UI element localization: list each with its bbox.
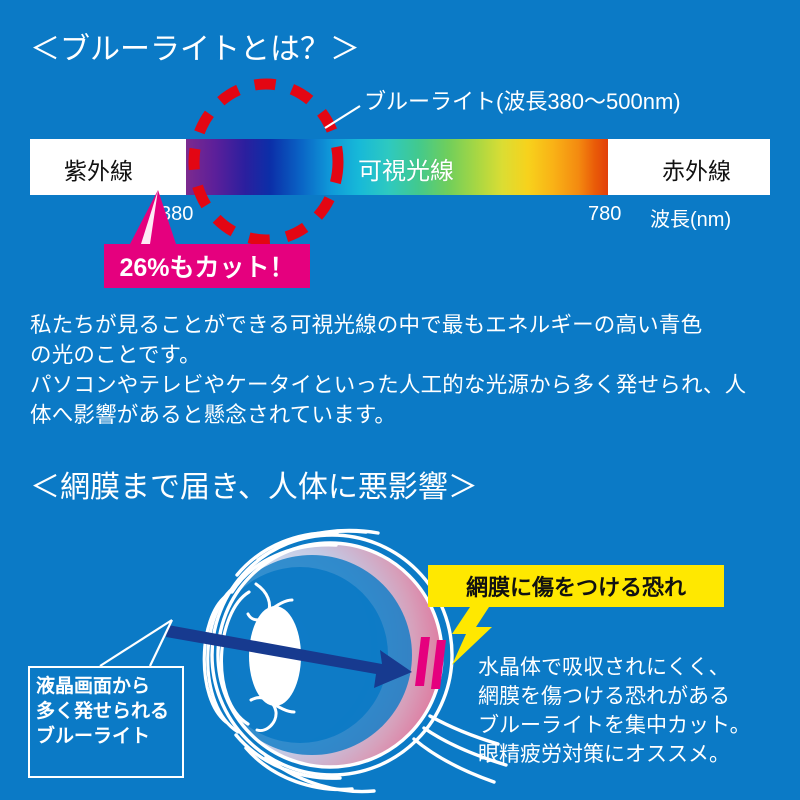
spectrum-label-ultraviolet: 紫外線 — [64, 152, 133, 186]
axis-unit-label: 波長(nm) — [650, 203, 731, 232]
retina-damage-marks — [415, 637, 446, 689]
retina-description-paragraph: 水晶体で吸収されにくく、 網膜を傷つける恐れがある ブルーライトを集中カット。 … — [478, 653, 788, 769]
spectrum-label-visible-light: 可視光線 — [358, 151, 454, 186]
section-title-blue-light: ＜ブルーライトとは？＞ — [30, 24, 360, 68]
axis-value-max: 780 — [588, 203, 621, 226]
screen-callout-pointer — [100, 620, 172, 666]
cut-percentage-banner: 26%もカット！ — [104, 244, 310, 288]
section-title-retina: ＜網膜まで届き、人体に悪影響＞ — [30, 462, 478, 506]
spectrum-bar: 紫外線 赤外線 可視光線 — [30, 139, 770, 195]
cut-banner-pointer-highlight — [141, 190, 158, 244]
blue-light-description-paragraph: 私たちが見ることができる可視光線の中で最もエネルギーの高い青色 の光のことです。… — [30, 310, 776, 430]
retina-damage-callout-label: 網膜に傷をつける恐れ — [466, 570, 686, 602]
blue-light-arrow — [166, 625, 412, 688]
iris-structures — [248, 584, 294, 731]
cut-percentage-label: 26%もカット！ — [119, 248, 294, 284]
eyeball-body — [212, 543, 442, 767]
retina-damage-callout: 網膜に傷をつける恐れ — [428, 565, 724, 607]
eye-lens — [249, 606, 301, 706]
spectrum-label-infrared: 赤外線 — [662, 152, 731, 186]
screen-source-callout-label: 液晶画面から 多く発せられる ブルーライト — [36, 674, 186, 749]
axis-value-min: 380 — [160, 203, 193, 226]
cornea-outline — [204, 586, 249, 732]
infographic-page: ＜ブルーライトとは？＞ 紫外線 赤外線 可視光線 380 780 波長(nm) … — [0, 0, 800, 800]
blue-light-leader-line — [325, 106, 360, 128]
blue-light-range-callout-text: ブルーライト(波長380〜500nm) — [364, 84, 681, 116]
